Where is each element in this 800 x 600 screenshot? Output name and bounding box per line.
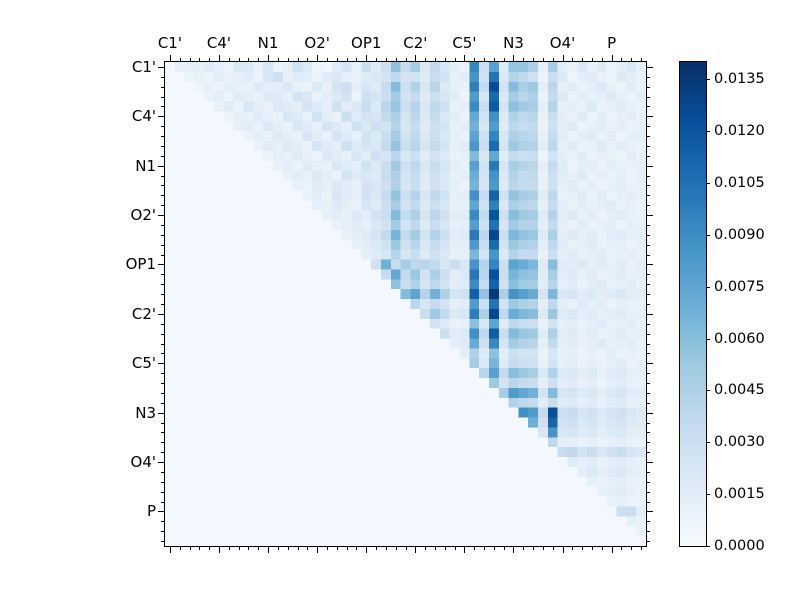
colorbar-tick-label: 0.0000	[714, 538, 765, 554]
x-tick-major	[317, 546, 318, 553]
y-tick-minor	[161, 531, 165, 532]
y-tick-minor	[161, 472, 165, 473]
y-tick-minor	[646, 482, 650, 483]
y-tick-minor	[161, 255, 165, 256]
x-tick-label: C2'	[403, 34, 427, 52]
y-tick-minor	[646, 472, 650, 473]
y-tick-minor	[646, 136, 650, 137]
x-tick-minor	[484, 546, 485, 550]
x-tick-minor	[582, 546, 583, 550]
y-tick-major	[158, 166, 165, 167]
y-tick-minor	[161, 136, 165, 137]
y-tick-minor	[161, 373, 165, 374]
x-tick-major	[415, 55, 416, 62]
y-tick-minor	[646, 324, 650, 325]
y-tick-minor	[161, 294, 165, 295]
y-tick-minor	[161, 492, 165, 493]
x-tick-minor	[631, 546, 632, 550]
x-tick-minor	[337, 546, 338, 550]
colorbar-tick	[706, 79, 710, 80]
x-tick-minor	[248, 546, 249, 550]
x-tick-major	[612, 546, 613, 553]
y-tick-label: C2'	[132, 305, 156, 323]
y-tick-minor	[646, 185, 650, 186]
y-tick-minor	[161, 274, 165, 275]
colorbar-tick	[706, 183, 710, 184]
x-tick-minor	[553, 546, 554, 550]
x-tick-minor	[504, 58, 505, 62]
x-tick-minor	[523, 546, 524, 550]
y-tick-minor	[161, 97, 165, 98]
x-tick-minor	[504, 546, 505, 550]
y-tick-minor	[161, 344, 165, 345]
x-tick-minor	[229, 546, 230, 550]
y-tick-minor	[646, 442, 650, 443]
x-tick-major	[366, 546, 367, 553]
x-tick-minor	[248, 58, 249, 62]
x-tick-minor	[543, 58, 544, 62]
x-tick-major	[464, 546, 465, 553]
x-tick-minor	[239, 58, 240, 62]
colorbar-tick-label: 0.0090	[714, 227, 765, 243]
y-tick-minor	[161, 225, 165, 226]
y-tick-major	[646, 67, 653, 68]
x-tick-minor	[592, 546, 593, 550]
x-tick-minor	[445, 58, 446, 62]
y-tick-minor	[161, 403, 165, 404]
y-tick-label: N3	[135, 404, 156, 422]
y-tick-minor	[161, 126, 165, 127]
y-tick-minor	[646, 126, 650, 127]
y-tick-major	[646, 413, 653, 414]
x-tick-minor	[474, 546, 475, 550]
x-tick-minor	[190, 546, 191, 550]
colorbar-tick	[706, 235, 710, 236]
y-tick-minor	[646, 393, 650, 394]
y-tick-minor	[646, 452, 650, 453]
y-tick-minor	[161, 77, 165, 78]
x-tick-minor	[406, 58, 407, 62]
y-tick-minor	[161, 502, 165, 503]
y-tick-minor	[646, 521, 650, 522]
y-tick-minor	[646, 156, 650, 157]
x-tick-minor	[327, 58, 328, 62]
colorbar-tick	[706, 494, 710, 495]
y-tick-minor	[646, 294, 650, 295]
y-tick-minor	[646, 373, 650, 374]
y-tick-major	[158, 215, 165, 216]
y-tick-minor	[646, 205, 650, 206]
y-tick-minor	[161, 304, 165, 305]
x-tick-label: P	[607, 34, 616, 52]
x-tick-minor	[298, 58, 299, 62]
x-tick-minor	[572, 546, 573, 550]
y-tick-minor	[161, 235, 165, 236]
x-tick-minor	[602, 58, 603, 62]
x-tick-major	[563, 55, 564, 62]
colorbar-gradient	[680, 62, 706, 546]
y-tick-minor	[646, 235, 650, 236]
y-tick-minor	[161, 245, 165, 246]
x-tick-minor	[641, 58, 642, 62]
x-tick-minor	[455, 546, 456, 550]
x-tick-minor	[278, 58, 279, 62]
y-tick-minor	[646, 502, 650, 503]
x-tick-minor	[406, 546, 407, 550]
x-tick-minor	[386, 546, 387, 550]
x-tick-minor	[621, 546, 622, 550]
y-tick-minor	[646, 106, 650, 107]
colorbar-tick-label: 0.0075	[714, 279, 765, 295]
y-tick-major	[158, 314, 165, 315]
x-tick-minor	[180, 58, 181, 62]
x-tick-minor	[435, 546, 436, 550]
x-tick-label: C1'	[158, 34, 182, 52]
colorbar-tick	[706, 339, 710, 340]
y-tick-major	[646, 215, 653, 216]
y-tick-minor	[161, 432, 165, 433]
y-tick-minor	[161, 185, 165, 186]
x-tick-minor	[494, 58, 495, 62]
y-tick-minor	[161, 393, 165, 394]
x-tick-minor	[602, 546, 603, 550]
x-tick-minor	[229, 58, 230, 62]
y-tick-minor	[646, 195, 650, 196]
x-tick-major	[170, 55, 171, 62]
x-tick-minor	[288, 546, 289, 550]
y-tick-major	[158, 462, 165, 463]
x-tick-minor	[209, 58, 210, 62]
y-tick-minor	[161, 541, 165, 542]
y-tick-major	[646, 116, 653, 117]
y-tick-minor	[161, 324, 165, 325]
y-tick-minor	[646, 353, 650, 354]
x-tick-major	[563, 546, 564, 553]
x-tick-minor	[621, 58, 622, 62]
y-tick-major	[158, 67, 165, 68]
y-tick-minor	[161, 205, 165, 206]
y-tick-minor	[646, 146, 650, 147]
x-tick-minor	[523, 58, 524, 62]
x-tick-minor	[386, 58, 387, 62]
x-tick-minor	[376, 58, 377, 62]
y-tick-label: C5'	[132, 354, 156, 372]
x-tick-minor	[445, 546, 446, 550]
x-tick-minor	[239, 546, 240, 550]
colorbar-tick-label: 0.0015	[714, 486, 765, 502]
x-tick-minor	[396, 546, 397, 550]
y-tick-label: N1	[135, 157, 156, 175]
y-tick-minor	[161, 156, 165, 157]
y-tick-major	[158, 413, 165, 414]
y-tick-minor	[646, 284, 650, 285]
colorbar-tick-label: 0.0060	[714, 331, 765, 347]
y-tick-label: O2'	[131, 206, 156, 224]
x-tick-label: N3	[503, 34, 524, 52]
y-tick-major	[158, 264, 165, 265]
colorbar-tick-label: 0.0120	[714, 123, 765, 139]
x-tick-label: C4'	[207, 34, 231, 52]
x-tick-minor	[592, 58, 593, 62]
colorbar-tick-label: 0.0030	[714, 434, 765, 450]
x-tick-major	[612, 55, 613, 62]
x-tick-minor	[199, 546, 200, 550]
colorbar-tick	[706, 442, 710, 443]
x-tick-minor	[278, 546, 279, 550]
x-tick-major	[513, 546, 514, 553]
x-tick-minor	[533, 58, 534, 62]
x-tick-label: C5'	[452, 34, 476, 52]
y-tick-label: OP1	[126, 255, 156, 273]
y-tick-minor	[646, 344, 650, 345]
y-tick-minor	[161, 146, 165, 147]
y-tick-minor	[646, 492, 650, 493]
colorbar-tick-label: 0.0135	[714, 71, 765, 87]
y-tick-minor	[161, 482, 165, 483]
y-tick-minor	[646, 97, 650, 98]
y-tick-major	[158, 363, 165, 364]
x-tick-major	[317, 55, 318, 62]
heatmap-image[interactable]	[165, 62, 646, 546]
y-tick-minor	[646, 255, 650, 256]
x-tick-minor	[494, 546, 495, 550]
y-tick-major	[646, 264, 653, 265]
y-tick-major	[646, 363, 653, 364]
y-tick-label: O4'	[131, 453, 156, 471]
x-tick-major	[415, 546, 416, 553]
x-tick-minor	[631, 58, 632, 62]
y-tick-minor	[646, 176, 650, 177]
y-tick-minor	[161, 353, 165, 354]
x-tick-label: OP1	[351, 34, 381, 52]
x-tick-major	[268, 546, 269, 553]
x-tick-label: O4'	[550, 34, 575, 52]
heatmap-axes[interactable]: C1'C4'N1O2'OP1C2'C5'N3O4'P C1'C4'N1O2'OP…	[164, 61, 647, 547]
y-tick-minor	[161, 442, 165, 443]
x-tick-major	[170, 546, 171, 553]
colorbar-tick	[706, 131, 710, 132]
x-tick-minor	[435, 58, 436, 62]
x-tick-minor	[327, 546, 328, 550]
x-tick-minor	[347, 58, 348, 62]
x-tick-minor	[307, 546, 308, 550]
y-tick-minor	[646, 225, 650, 226]
figure-canvas: C1'C4'N1O2'OP1C2'C5'N3O4'P C1'C4'N1O2'OP…	[0, 0, 800, 600]
x-tick-minor	[474, 58, 475, 62]
y-tick-minor	[646, 245, 650, 246]
x-tick-minor	[396, 58, 397, 62]
y-tick-minor	[161, 176, 165, 177]
x-tick-minor	[572, 58, 573, 62]
x-tick-minor	[356, 546, 357, 550]
y-tick-minor	[161, 423, 165, 424]
x-tick-minor	[455, 58, 456, 62]
y-tick-minor	[161, 383, 165, 384]
y-tick-minor	[161, 195, 165, 196]
x-tick-minor	[307, 58, 308, 62]
colorbar-tick	[706, 390, 710, 391]
y-tick-minor	[161, 106, 165, 107]
colorbar-axes[interactable]: 0.00000.00150.00300.00450.00600.00750.00…	[679, 61, 707, 547]
y-tick-label: C4'	[132, 107, 156, 125]
x-tick-minor	[288, 58, 289, 62]
y-tick-label: P	[147, 502, 156, 520]
x-tick-minor	[298, 546, 299, 550]
y-tick-minor	[646, 77, 650, 78]
x-tick-minor	[199, 58, 200, 62]
y-tick-minor	[646, 423, 650, 424]
x-tick-minor	[376, 546, 377, 550]
colorbar-tick-label: 0.0045	[714, 382, 765, 398]
colorbar-tick	[706, 287, 710, 288]
y-tick-minor	[646, 304, 650, 305]
y-tick-minor	[646, 274, 650, 275]
y-tick-major	[158, 511, 165, 512]
y-tick-major	[646, 462, 653, 463]
x-tick-minor	[641, 546, 642, 550]
x-tick-minor	[553, 58, 554, 62]
x-tick-minor	[425, 546, 426, 550]
y-tick-minor	[161, 87, 165, 88]
x-tick-minor	[533, 546, 534, 550]
y-tick-minor	[646, 541, 650, 542]
y-tick-minor	[161, 452, 165, 453]
y-tick-minor	[161, 284, 165, 285]
colorbar-tick-label: 0.0105	[714, 175, 765, 191]
y-tick-major	[158, 116, 165, 117]
y-tick-minor	[646, 383, 650, 384]
x-tick-minor	[425, 58, 426, 62]
colorbar-tick	[706, 546, 710, 547]
x-tick-major	[366, 55, 367, 62]
x-tick-minor	[543, 546, 544, 550]
x-tick-minor	[347, 546, 348, 550]
x-tick-minor	[258, 546, 259, 550]
x-tick-minor	[337, 58, 338, 62]
x-tick-major	[268, 55, 269, 62]
y-tick-minor	[646, 403, 650, 404]
y-tick-major	[646, 511, 653, 512]
x-tick-minor	[180, 546, 181, 550]
y-tick-major	[646, 314, 653, 315]
x-tick-major	[219, 55, 220, 62]
x-tick-major	[464, 55, 465, 62]
y-tick-minor	[646, 87, 650, 88]
y-tick-minor	[161, 334, 165, 335]
x-tick-major	[219, 546, 220, 553]
x-tick-minor	[209, 546, 210, 550]
y-tick-major	[646, 166, 653, 167]
y-tick-label: C1'	[132, 58, 156, 76]
x-tick-minor	[190, 58, 191, 62]
y-tick-minor	[646, 531, 650, 532]
y-tick-minor	[161, 521, 165, 522]
x-tick-label: N1	[258, 34, 279, 52]
x-tick-label: O2'	[304, 34, 329, 52]
x-tick-minor	[484, 58, 485, 62]
y-tick-minor	[646, 334, 650, 335]
x-tick-minor	[356, 58, 357, 62]
x-tick-minor	[582, 58, 583, 62]
x-tick-minor	[258, 58, 259, 62]
y-tick-minor	[646, 432, 650, 433]
x-tick-major	[513, 55, 514, 62]
